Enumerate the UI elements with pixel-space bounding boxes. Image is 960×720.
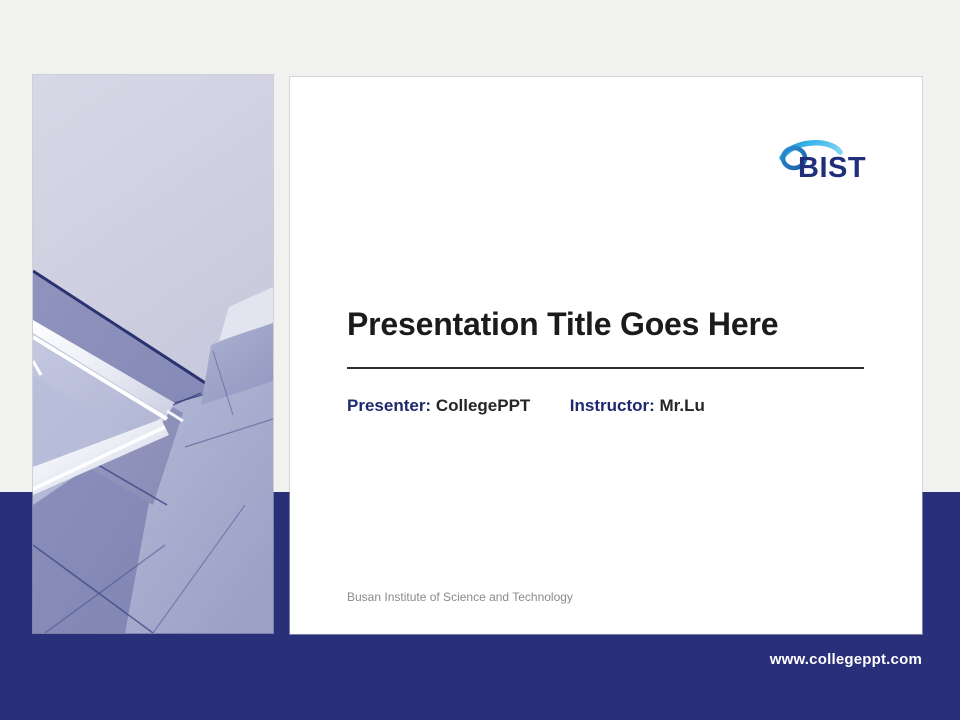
instructor-label: Instructor: bbox=[570, 396, 655, 415]
watermark-url: www.collegeppt.com bbox=[770, 651, 922, 668]
instructor-value: Mr.Lu bbox=[660, 396, 705, 415]
architecture-photo-graphic bbox=[33, 75, 273, 633]
bist-logo: BIST bbox=[778, 136, 888, 188]
page-title: Presentation Title Goes Here bbox=[347, 306, 877, 343]
bist-logo-graphic: BIST bbox=[778, 136, 888, 188]
presenter-label: Presenter: bbox=[347, 396, 431, 415]
title-divider bbox=[347, 367, 864, 369]
architecture-photo bbox=[33, 75, 273, 633]
svg-text:BIST: BIST bbox=[798, 152, 866, 184]
credits-line: Presenter: CollegePPT Instructor: Mr.Lu bbox=[347, 396, 705, 416]
presenter-value: CollegePPT bbox=[436, 396, 530, 415]
organization-footer: Busan Institute of Science and Technolog… bbox=[347, 590, 573, 604]
